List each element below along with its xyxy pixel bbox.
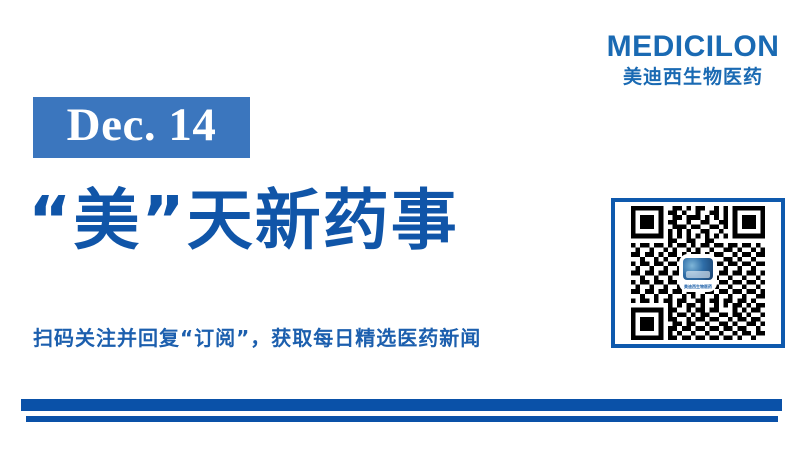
subscribe-caption: 扫码关注并回复“订阅”，获取每日精选医药新闻 (33, 328, 481, 348)
brand-logo: MEDICILON 美迪西生物医药 (598, 32, 788, 87)
brand-subtitle: 美迪西生物医药 (598, 68, 788, 87)
qr-code-block[interactable]: 美迪西生物医药 (611, 198, 785, 348)
qr-center-logo-art (683, 258, 713, 280)
headline-title: “美”天新药事 (28, 188, 459, 254)
qr-center-logo: 美迪西生物医药 (681, 256, 715, 290)
qr-center-logo-caption: 美迪西生物医药 (681, 284, 715, 289)
brand-wordmark: MEDICILON (598, 32, 788, 62)
qr-code-image: 美迪西生物医药 (631, 206, 765, 340)
date-badge-label: Dec. 14 (67, 102, 217, 149)
footer-rule-thick (21, 399, 782, 411)
date-badge: Dec. 14 (33, 97, 250, 158)
footer-rule-thin (26, 416, 778, 422)
poster-canvas: MEDICILON 美迪西生物医药 Dec. 14 “美”天新药事 扫码关注并回… (0, 0, 800, 468)
